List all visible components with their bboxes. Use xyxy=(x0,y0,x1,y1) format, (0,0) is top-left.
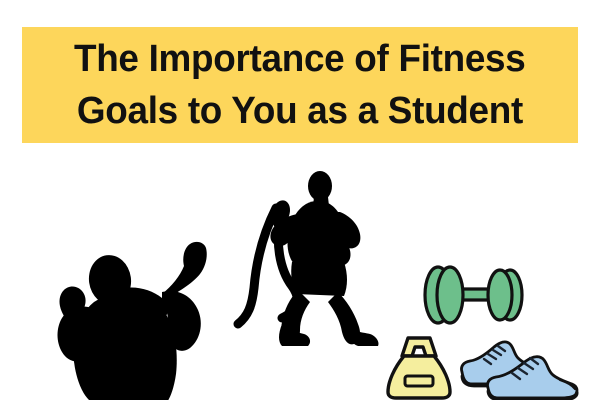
bodybuilder-silhouette-icon xyxy=(36,238,226,400)
illustration-group xyxy=(0,150,600,400)
kettlebell-icon xyxy=(378,330,460,400)
running-shoes-icon xyxy=(456,332,582,400)
poster-canvas: The Importance of Fitness Goals to You a… xyxy=(0,0,600,400)
title-line-1: The Importance of Fitness xyxy=(74,33,526,85)
title-banner: The Importance of Fitness Goals to You a… xyxy=(22,27,578,143)
dumbbell-icon xyxy=(412,256,536,334)
battle-ropes-silhouette-icon xyxy=(228,164,384,356)
title-line-2: Goals to You as a Student xyxy=(77,85,523,137)
